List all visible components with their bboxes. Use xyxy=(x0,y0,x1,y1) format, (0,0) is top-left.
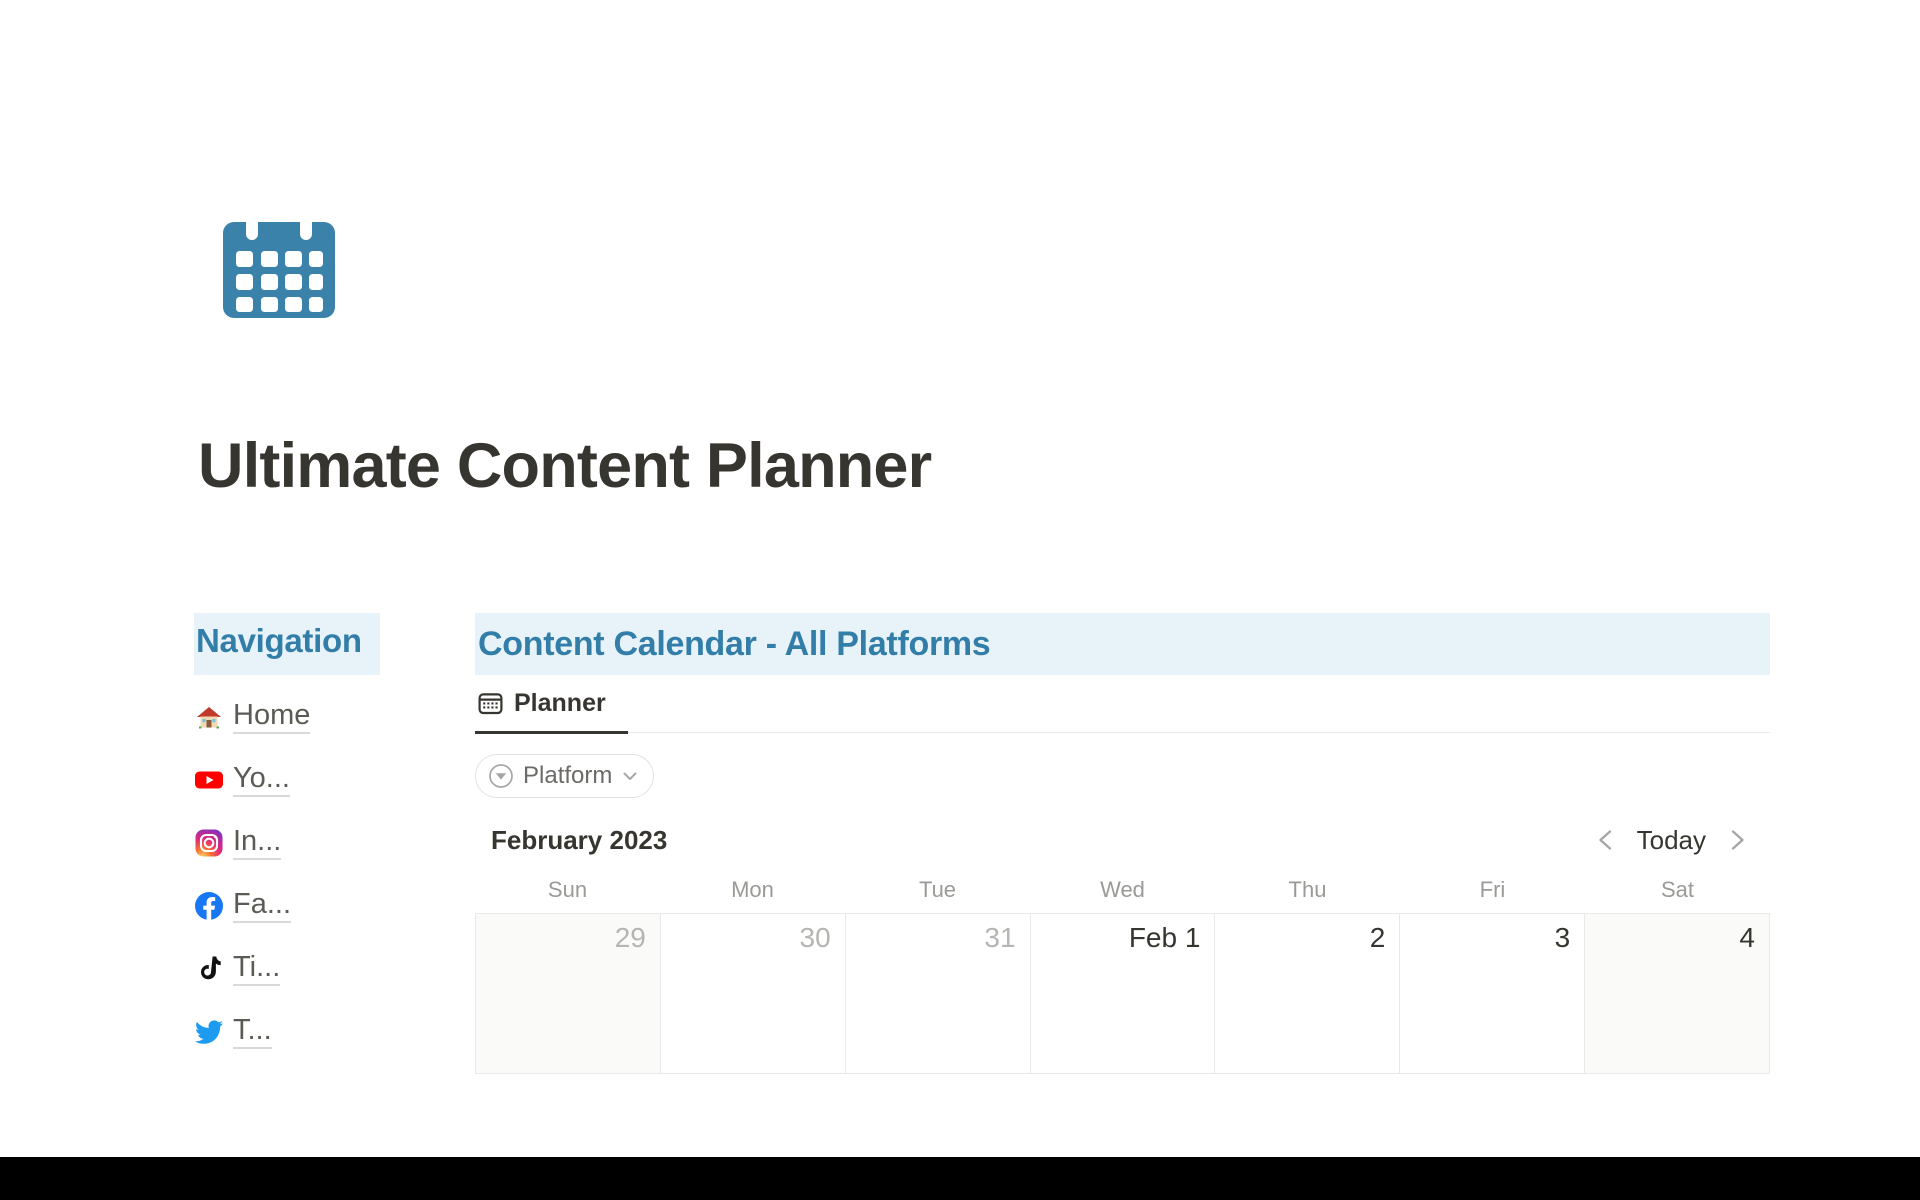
database-title-band: Content Calendar - All Platforms xyxy=(475,613,1770,675)
page-canvas: Ultimate Content Planner Navigation xyxy=(0,0,1920,1157)
calendar-day-cell[interactable]: 4 xyxy=(1585,914,1770,1074)
tab-label: Planner xyxy=(514,689,606,718)
weekday-label: Sat xyxy=(1585,877,1770,903)
main-content: Content Calendar - All Platforms xyxy=(475,613,1770,1074)
chevron-right-icon[interactable] xyxy=(1726,827,1748,853)
filter-bar: Platform xyxy=(475,733,1770,805)
sidebar-item-label: In... xyxy=(233,826,281,860)
sidebar-item-facebook[interactable]: Fa... xyxy=(194,885,380,927)
today-button[interactable]: Today xyxy=(1637,825,1706,856)
sidebar-item-youtube[interactable]: Yo... xyxy=(194,759,380,801)
database-title: Content Calendar - All Platforms xyxy=(478,625,990,664)
instagram-icon xyxy=(194,828,224,858)
tiktok-icon xyxy=(194,954,224,984)
page-title: Ultimate Content Planner xyxy=(198,430,931,502)
sidebar-item-label: Home xyxy=(233,700,310,734)
sidebar-item-label: Ti... xyxy=(233,952,280,986)
facebook-icon xyxy=(194,891,224,921)
weekday-label: Tue xyxy=(845,877,1030,903)
calendar-day-number: 29 xyxy=(486,924,646,952)
navigation-list: Home Yo... xyxy=(194,696,380,1053)
sidebar-item-label: Yo... xyxy=(233,763,290,797)
calendar-day-cell[interactable]: 3 xyxy=(1400,914,1585,1074)
weekday-label: Wed xyxy=(1030,877,1215,903)
weekday-label: Thu xyxy=(1215,877,1400,903)
calendar-day-cell[interactable]: 2 xyxy=(1215,914,1400,1074)
chevron-down-icon xyxy=(621,767,639,785)
tab-planner[interactable]: Planner xyxy=(475,675,628,733)
calendar-day-cell[interactable]: 29 xyxy=(476,914,661,1074)
chevron-left-icon[interactable] xyxy=(1595,827,1617,853)
calendar-emoji-icon[interactable] xyxy=(219,204,339,324)
calendar-day-number: 2 xyxy=(1225,924,1385,952)
youtube-icon xyxy=(194,765,224,795)
navigation-sidebar: Navigation Home xyxy=(194,613,380,1074)
calendar-month-header: February 2023 Today xyxy=(475,805,1770,867)
calendar-day-cell[interactable]: 30 xyxy=(661,914,846,1074)
weekday-label: Fri xyxy=(1400,877,1585,903)
sidebar-item-label: T... xyxy=(233,1015,272,1049)
calendar-grid: 29 30 31 Feb 1 2 3 4 xyxy=(475,913,1770,1074)
house-emoji-icon xyxy=(194,702,224,732)
calendar-day-number: 4 xyxy=(1595,924,1755,952)
sidebar-item-tiktok[interactable]: Ti... xyxy=(194,948,380,990)
calendar-day-number: 31 xyxy=(856,924,1016,952)
calendar-day-cell[interactable]: Feb 1 xyxy=(1031,914,1216,1074)
sidebar-item-home[interactable]: Home xyxy=(194,696,380,738)
sidebar-item-twitter[interactable]: T... xyxy=(194,1011,380,1053)
month-label: February 2023 xyxy=(475,825,667,856)
calendar-day-number: Feb 1 xyxy=(1041,924,1201,952)
calendar-day-cell[interactable]: 31 xyxy=(846,914,1031,1074)
navigation-heading: Navigation xyxy=(194,613,380,675)
filter-platform-button[interactable]: Platform xyxy=(475,754,654,798)
calendar-weekday-header: Sun Mon Tue Wed Thu Fri Sat xyxy=(475,867,1770,913)
twitter-icon xyxy=(194,1017,224,1047)
sidebar-item-label: Fa... xyxy=(233,889,291,923)
view-tabs: Planner xyxy=(475,675,1770,733)
sidebar-item-instagram[interactable]: In... xyxy=(194,822,380,864)
calendar-nav-controls: Today xyxy=(1595,825,1770,856)
calendar-view-icon xyxy=(478,691,503,716)
bottom-letterbox xyxy=(0,1157,1920,1200)
weekday-label: Sun xyxy=(475,877,660,903)
calendar-day-number: 3 xyxy=(1410,924,1570,952)
calendar-day-number: 30 xyxy=(671,924,831,952)
filter-label: Platform xyxy=(523,762,612,790)
weekday-label: Mon xyxy=(660,877,845,903)
filter-circle-icon xyxy=(488,763,514,789)
